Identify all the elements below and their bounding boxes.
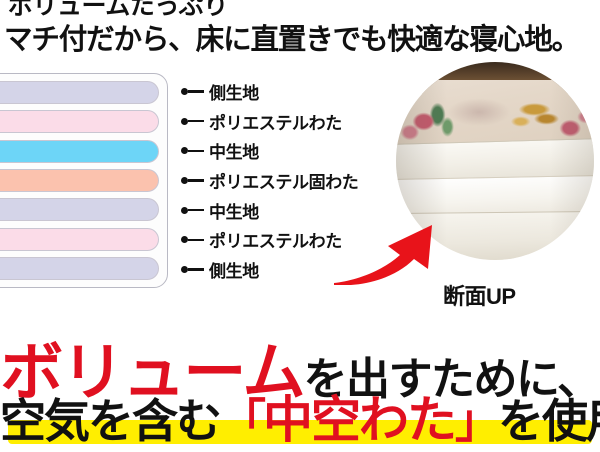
- layer-bar-6: [0, 257, 159, 280]
- photo-circle: [396, 62, 594, 260]
- bottom-headline-block: ボリュームを出すために、 空気を含む「中空わた」を使用: [0, 322, 600, 449]
- layer-label-text-0: 側生地: [209, 79, 259, 104]
- leader-line-icon: [188, 268, 204, 271]
- leader-dot-icon: [181, 266, 188, 273]
- page-headline: マチ付だから、床に直置きでも快適な寝心地。: [4, 16, 589, 58]
- layer-label-row: 中生地: [181, 199, 396, 222]
- bottom-line2-black-b: を使用: [498, 395, 600, 447]
- layer-label-row: ポリエステル固わた: [181, 169, 396, 192]
- leader-dot-icon: [181, 236, 188, 243]
- layer-label-text-4: 中生地: [209, 198, 259, 223]
- layer-bar-1: [0, 110, 159, 133]
- bracket-close: 」: [455, 395, 498, 447]
- layer-label-text-3: ポリエステル固わた: [209, 168, 358, 193]
- layer-label-row: 側生地: [181, 258, 396, 281]
- leader-dot-icon: [181, 177, 188, 184]
- bracket-open: 「: [220, 395, 263, 447]
- leader-line-icon: [188, 90, 204, 93]
- leader-dot-icon: [181, 207, 188, 214]
- layer-bar-2: [0, 140, 159, 163]
- layer-label-text-1: ポリエステルわた: [209, 109, 342, 134]
- photo-shade-right: [550, 62, 594, 260]
- bottom-line2-black-a: 空気を含む: [0, 395, 220, 447]
- layer-label-text-5: ポリエステルわた: [209, 227, 342, 252]
- leader-line-icon: [188, 120, 204, 123]
- layer-label-row: 側生地: [181, 80, 396, 103]
- layer-label-text-2: 中生地: [209, 138, 259, 163]
- leader-line-icon: [188, 150, 204, 153]
- leader-dot-icon: [181, 147, 188, 154]
- layer-label-column: 側生地 ポリエステルわた 中生地 ポリエステル固わた 中生地 ポリエステルわた …: [181, 73, 396, 288]
- cross-section-photo: [396, 62, 594, 260]
- layer-bar-3: [0, 169, 159, 192]
- layer-diagram-panel: [0, 73, 168, 288]
- photo-shade-left: [396, 62, 447, 260]
- layer-label-row: ポリエステルわた: [181, 228, 396, 251]
- photo-caption: 断面UP: [443, 279, 516, 311]
- leader-dot-icon: [181, 118, 188, 125]
- leader-line-icon: [188, 239, 204, 242]
- leader-line-icon: [188, 209, 204, 212]
- layer-label-text-6: 側生地: [209, 257, 259, 282]
- layer-label-row: ポリエステルわた: [181, 110, 396, 133]
- layer-bar-5: [0, 228, 159, 251]
- leader-line-icon: [188, 179, 204, 182]
- leader-dot-icon: [181, 88, 188, 95]
- layer-bar-0: [0, 81, 159, 104]
- layer-bar-4: [0, 198, 159, 221]
- bottom-line-2: 空気を含む「中空わた」を使用: [0, 380, 600, 452]
- bottom-line2-red-text: 中空わた: [263, 392, 455, 448]
- layer-label-row: 中生地: [181, 139, 396, 162]
